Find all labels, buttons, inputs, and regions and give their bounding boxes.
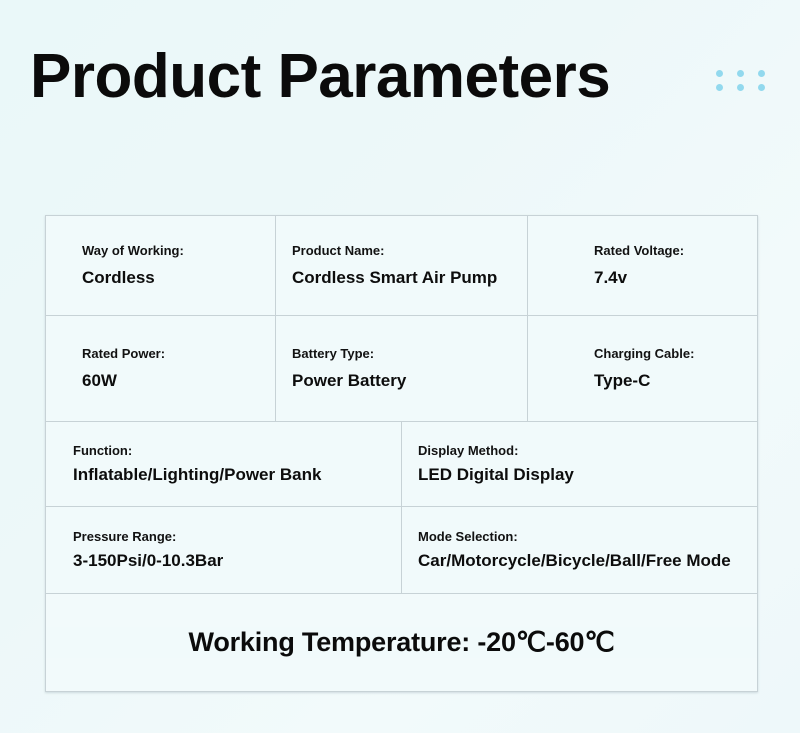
table-row: Rated Power: 60W Battery Type: Power Bat… xyxy=(46,316,757,422)
spec-cell-function: Function: Inflatable/Lighting/Power Bank xyxy=(46,422,402,506)
spec-label: Function: xyxy=(73,443,401,459)
spec-label: Pressure Range: xyxy=(73,529,401,545)
spec-label: Rated Voltage: xyxy=(594,243,757,259)
spec-cell-pressure-range: Pressure Range: 3-150Psi/0-10.3Bar xyxy=(46,507,402,593)
spec-cell-rated-voltage: Rated Voltage: 7.4v xyxy=(528,216,757,315)
spec-cell-way-of-working: Way of Working: Cordless xyxy=(46,216,276,315)
spec-value: LED Digital Display xyxy=(418,465,757,485)
spec-value: 7.4v xyxy=(594,268,757,288)
spec-cell-charging-cable: Charging Cable: Type-C xyxy=(528,316,757,421)
dot-grid-dot xyxy=(737,84,744,91)
spec-value: Type-C xyxy=(594,371,757,391)
spec-value: Inflatable/Lighting/Power Bank xyxy=(73,465,401,485)
page-header: Product Parameters xyxy=(0,0,800,190)
table-row: Way of Working: Cordless Product Name: C… xyxy=(46,216,757,316)
dot-grid-icon xyxy=(716,70,768,98)
spec-label: Mode Selection: xyxy=(418,529,757,545)
dot-grid-dot xyxy=(758,70,765,77)
spec-value: Car/Motorcycle/Bicycle/Ball/Free Mode xyxy=(418,551,757,571)
dot-grid-dot xyxy=(758,84,765,91)
spec-label: Charging Cable: xyxy=(594,346,757,362)
spec-cell-working-temperature: Working Temperature: -20℃-60℃ xyxy=(46,627,757,658)
spec-value: 60W xyxy=(82,371,275,391)
working-temperature-text: Working Temperature: -20℃-60℃ xyxy=(189,627,615,658)
page-title: Product Parameters xyxy=(30,46,610,108)
spec-value: Cordless xyxy=(82,268,275,288)
spec-cell-battery-type: Battery Type: Power Battery xyxy=(276,316,528,421)
spec-label: Battery Type: xyxy=(292,346,527,362)
dot-grid-dot xyxy=(737,70,744,77)
specifications-table: Way of Working: Cordless Product Name: C… xyxy=(45,215,758,692)
spec-value: Cordless Smart Air Pump xyxy=(292,268,527,288)
spec-value: 3-150Psi/0-10.3Bar xyxy=(73,551,401,571)
table-row: Working Temperature: -20℃-60℃ xyxy=(46,594,757,691)
dot-grid-dot xyxy=(716,84,723,91)
spec-cell-mode-selection: Mode Selection: Car/Motorcycle/Bicycle/B… xyxy=(402,507,757,593)
spec-label: Way of Working: xyxy=(82,243,275,259)
table-row: Pressure Range: 3-150Psi/0-10.3Bar Mode … xyxy=(46,507,757,594)
table-row: Function: Inflatable/Lighting/Power Bank… xyxy=(46,422,757,507)
spec-cell-display-method: Display Method: LED Digital Display xyxy=(402,422,757,506)
spec-label: Display Method: xyxy=(418,443,757,459)
dot-grid-dot xyxy=(716,70,723,77)
spec-label: Product Name: xyxy=(292,243,527,259)
spec-value: Power Battery xyxy=(292,371,527,391)
spec-cell-product-name: Product Name: Cordless Smart Air Pump xyxy=(276,216,528,315)
spec-label: Rated Power: xyxy=(82,346,275,362)
spec-cell-rated-power: Rated Power: 60W xyxy=(46,316,276,421)
